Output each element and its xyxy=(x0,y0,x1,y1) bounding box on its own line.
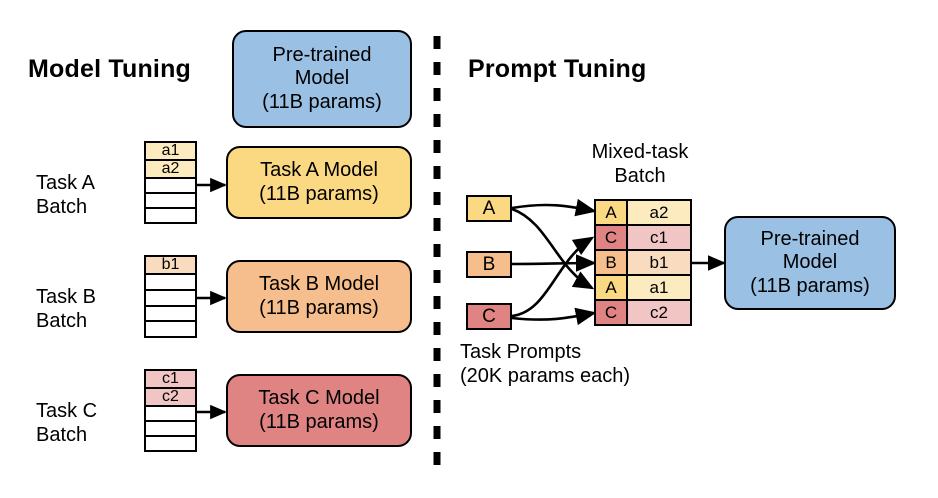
task-a-batch-table: a1a2 xyxy=(144,141,197,224)
mixed-batch-data-cell: c1 xyxy=(628,226,690,249)
task-prompt-chip-a[interactable]: A xyxy=(466,195,512,222)
task-a-batch-label-line2: Batch xyxy=(36,196,95,220)
task-c-batch-label: Task C Batch xyxy=(36,400,97,447)
left-pretrained-line1: Pre-trained xyxy=(273,44,372,67)
task-b-batch-table: b1 xyxy=(144,255,197,338)
mixed-batch-prompt-cell: C xyxy=(596,226,628,249)
task-c-batch-row: c1 xyxy=(146,371,195,389)
right-pretrained-model-box: Pre-trained Model (11B params) xyxy=(724,216,896,310)
task-b-batch-cell-value: b1 xyxy=(162,257,180,273)
diagram-canvas: Model Tuning Pre-trained Model (11B para… xyxy=(0,0,938,498)
task-b-batch-row xyxy=(146,322,195,336)
mixed-batch-data-cell: b1 xyxy=(628,251,690,274)
task-a-batch-row: a2 xyxy=(146,161,195,179)
task-a-batch-cell-value: a1 xyxy=(162,143,180,159)
task-prompts-caption-line2: (20K params each) xyxy=(460,365,630,389)
task-a-batch-label-line1: Task A xyxy=(36,172,95,196)
task-prompts-caption: Task Prompts (20K params each) xyxy=(460,341,630,388)
prompt-tuning-title: Prompt Tuning xyxy=(468,57,647,82)
arrow-prompt-a-to-row4 xyxy=(512,209,592,288)
task-prompt-chip-c-label: C xyxy=(482,307,496,326)
arrow-prompt-c-to-row5 xyxy=(512,313,594,320)
model-tuning-title: Model Tuning xyxy=(28,57,191,82)
task-a-batch-cell-value: a2 xyxy=(162,161,180,177)
task-b-model-line1: Task B Model xyxy=(259,273,379,296)
mixed-batch-data-cell: a1 xyxy=(628,276,690,299)
task-prompts-caption-line1: Task Prompts xyxy=(460,341,630,365)
arrow-prompt-a-to-row1 xyxy=(512,205,594,211)
mixed-batch-data-cell: c2 xyxy=(628,301,690,324)
task-a-model-line1: Task A Model xyxy=(260,159,378,182)
task-b-batch-row xyxy=(146,307,195,323)
task-c-batch-table: c1c2 xyxy=(144,369,197,452)
task-b-batch-label-line2: Batch xyxy=(36,310,96,334)
mixed-batch-prompt-cell: B xyxy=(596,251,628,274)
task-c-model-line1: Task C Model xyxy=(258,387,379,410)
left-pretrained-model-box: Pre-trained Model (11B params) xyxy=(232,30,412,128)
mixed-batch-prompt-cell: A xyxy=(596,201,628,224)
task-c-batch-row xyxy=(146,422,195,437)
mixed-batch-prompt-cell: C xyxy=(596,301,628,324)
task-c-batch-cell-value: c2 xyxy=(162,389,179,405)
task-b-batch-row: b1 xyxy=(146,257,195,275)
task-b-batch-label: Task B Batch xyxy=(36,286,96,333)
task-prompt-chip-b[interactable]: B xyxy=(466,251,512,278)
task-prompt-chip-c[interactable]: C xyxy=(466,303,512,330)
task-a-model-box: Task A Model (11B params) xyxy=(226,146,412,219)
mixed-task-batch-row: Aa1 xyxy=(596,276,690,301)
task-b-batch-label-line1: Task B xyxy=(36,286,96,310)
task-b-model-box: Task B Model (11B params) xyxy=(226,260,412,333)
mixed-task-batch-row: Cc1 xyxy=(596,226,690,251)
mixed-task-batch-label-line1: Mixed-task xyxy=(565,141,715,165)
left-pretrained-line2: Model xyxy=(295,67,349,90)
task-c-batch-row xyxy=(146,437,195,450)
mixed-batch-prompt-cell: A xyxy=(596,276,628,299)
left-pretrained-line3: (11B params) xyxy=(262,91,382,114)
task-prompt-chip-a-label: A xyxy=(483,199,496,218)
task-c-batch-row xyxy=(146,407,195,422)
right-pretrained-line2: Model xyxy=(783,251,837,274)
task-c-batch-label-line2: Batch xyxy=(36,424,97,448)
mixed-batch-data-cell: a2 xyxy=(628,201,690,224)
task-b-batch-row xyxy=(146,275,195,291)
task-a-batch-row xyxy=(146,179,195,194)
task-c-batch-label-line1: Task C xyxy=(36,400,97,424)
task-b-model-line2: (11B params) xyxy=(259,297,379,320)
task-c-batch-row: c2 xyxy=(146,389,195,407)
right-pretrained-line3: (11B params) xyxy=(750,275,870,298)
task-a-batch-row xyxy=(146,209,195,222)
mixed-task-batch-table: Aa2Cc1Bb1Aa1Cc2 xyxy=(594,199,692,326)
task-c-batch-cell-value: c1 xyxy=(162,371,179,387)
mixed-task-batch-label-line2: Batch xyxy=(565,165,715,189)
task-a-batch-label: Task A Batch xyxy=(36,172,95,219)
mixed-task-batch-row: Bb1 xyxy=(596,251,690,276)
task-a-batch-row: a1 xyxy=(146,143,195,161)
mixed-task-batch-row: Aa2 xyxy=(596,201,690,226)
task-prompt-chip-b-label: B xyxy=(483,255,496,274)
arrow-prompt-c-to-row2 xyxy=(512,238,592,316)
mixed-task-batch-label: Mixed-task Batch xyxy=(565,141,715,188)
task-a-model-line2: (11B params) xyxy=(259,183,379,206)
arrow-prompt-b-to-row3 xyxy=(512,263,594,264)
task-c-model-box: Task C Model (11B params) xyxy=(226,374,412,447)
task-b-batch-row xyxy=(146,291,195,307)
task-a-batch-row xyxy=(146,194,195,209)
right-pretrained-line1: Pre-trained xyxy=(761,228,860,251)
mixed-task-batch-row: Cc2 xyxy=(596,301,690,324)
task-c-model-line2: (11B params) xyxy=(259,411,379,434)
